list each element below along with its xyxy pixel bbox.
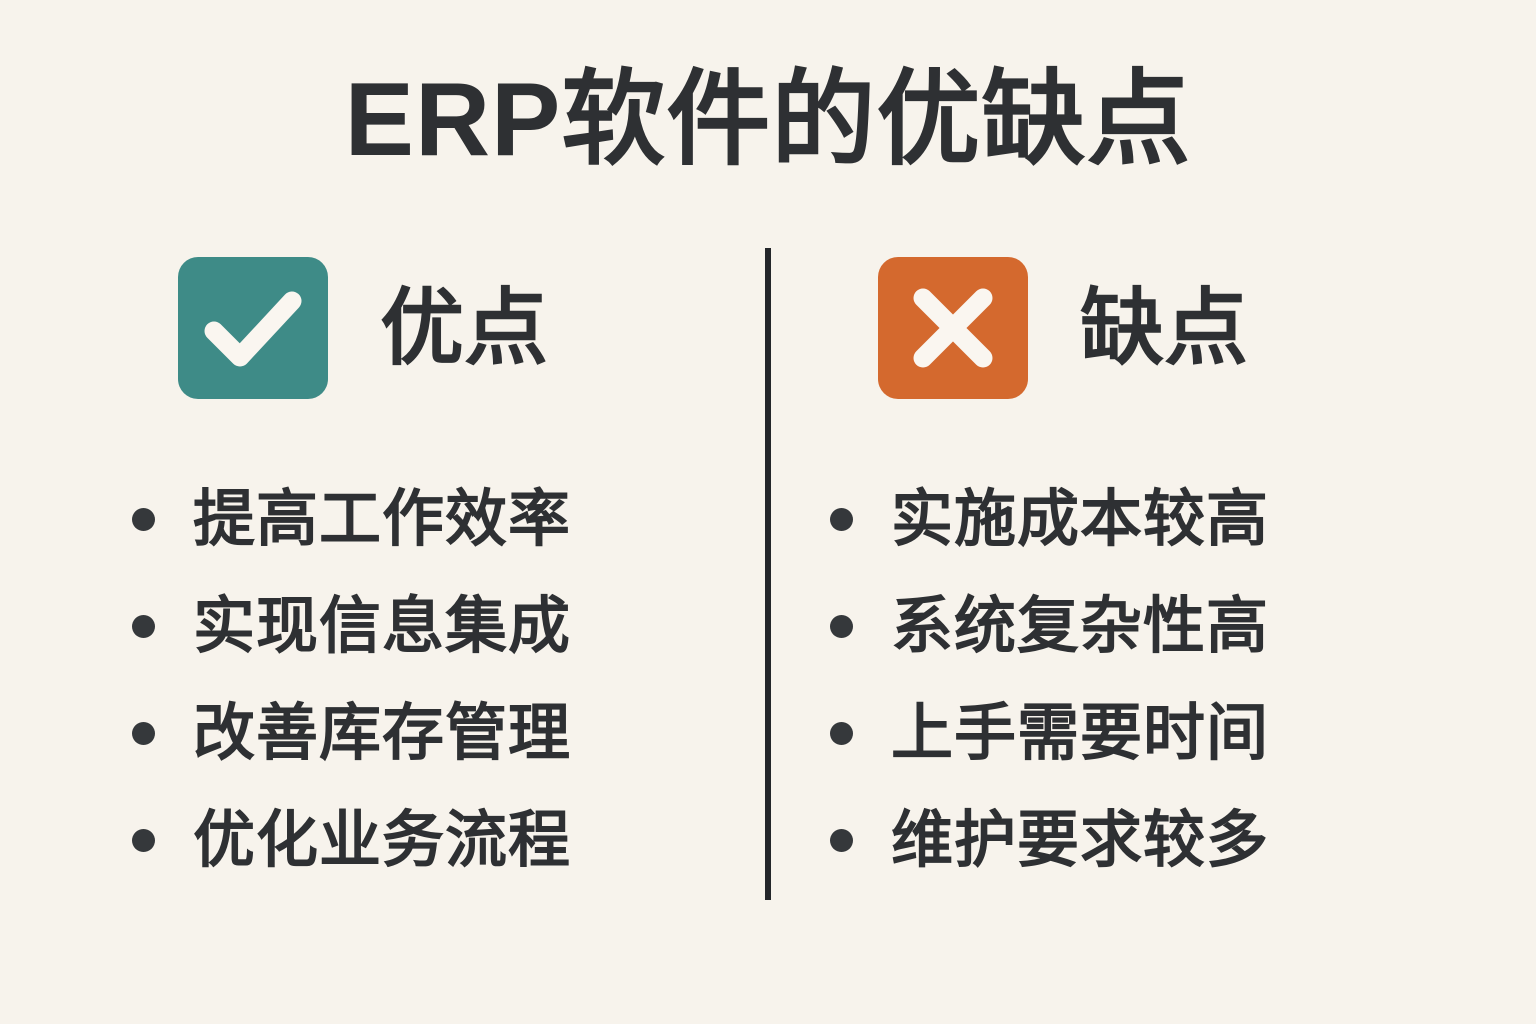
list-item-label: 实施成本较高 (891, 484, 1269, 556)
bullet-icon (830, 508, 853, 531)
list-item: 维护要求较多 (830, 787, 1536, 894)
list-item: 改善库存管理 (132, 680, 768, 787)
infographic-root: ERP软件的优缺点 优点 提高工作效率 (0, 0, 1536, 1024)
pros-list: 提高工作效率 实现信息集成 改善库存管理 优化业务流程 (0, 408, 768, 894)
list-item: 优化业务流程 (132, 787, 768, 894)
bullet-icon (830, 615, 853, 638)
bullet-icon (132, 508, 155, 531)
list-item-label: 改善库存管理 (193, 698, 571, 770)
list-item: 实施成本较高 (830, 466, 1536, 573)
cons-list: 实施成本较高 系统复杂性高 上手需要时间 维护要求较多 (768, 408, 1536, 894)
list-item-label: 提高工作效率 (193, 484, 571, 556)
pros-column: 优点 提高工作效率 实现信息集成 改善库存管理 (0, 248, 768, 908)
list-item-label: 上手需要时间 (891, 698, 1269, 770)
bullet-icon (132, 722, 155, 745)
cons-header: 缺点 (768, 248, 1536, 408)
cons-header-label: 缺点 (1080, 283, 1248, 373)
list-item: 提高工作效率 (132, 466, 768, 573)
list-item-label: 优化业务流程 (193, 805, 571, 877)
list-item-label: 实现信息集成 (193, 591, 571, 663)
list-item-label: 系统复杂性高 (891, 591, 1269, 663)
bullet-icon (132, 829, 155, 852)
list-item-label: 维护要求较多 (891, 805, 1269, 877)
page-title: ERP软件的优缺点 (0, 60, 1536, 180)
check-icon (178, 257, 328, 399)
pros-header: 优点 (0, 248, 768, 408)
column-divider (765, 248, 771, 900)
list-item: 实现信息集成 (132, 573, 768, 680)
cross-icon (878, 257, 1028, 399)
cons-column: 缺点 实施成本较高 系统复杂性高 上手需要时间 (768, 248, 1536, 908)
bullet-icon (830, 722, 853, 745)
pros-header-label: 优点 (380, 283, 548, 373)
bullet-icon (830, 829, 853, 852)
list-item: 系统复杂性高 (830, 573, 1536, 680)
list-item: 上手需要时间 (830, 680, 1536, 787)
bullet-icon (132, 615, 155, 638)
